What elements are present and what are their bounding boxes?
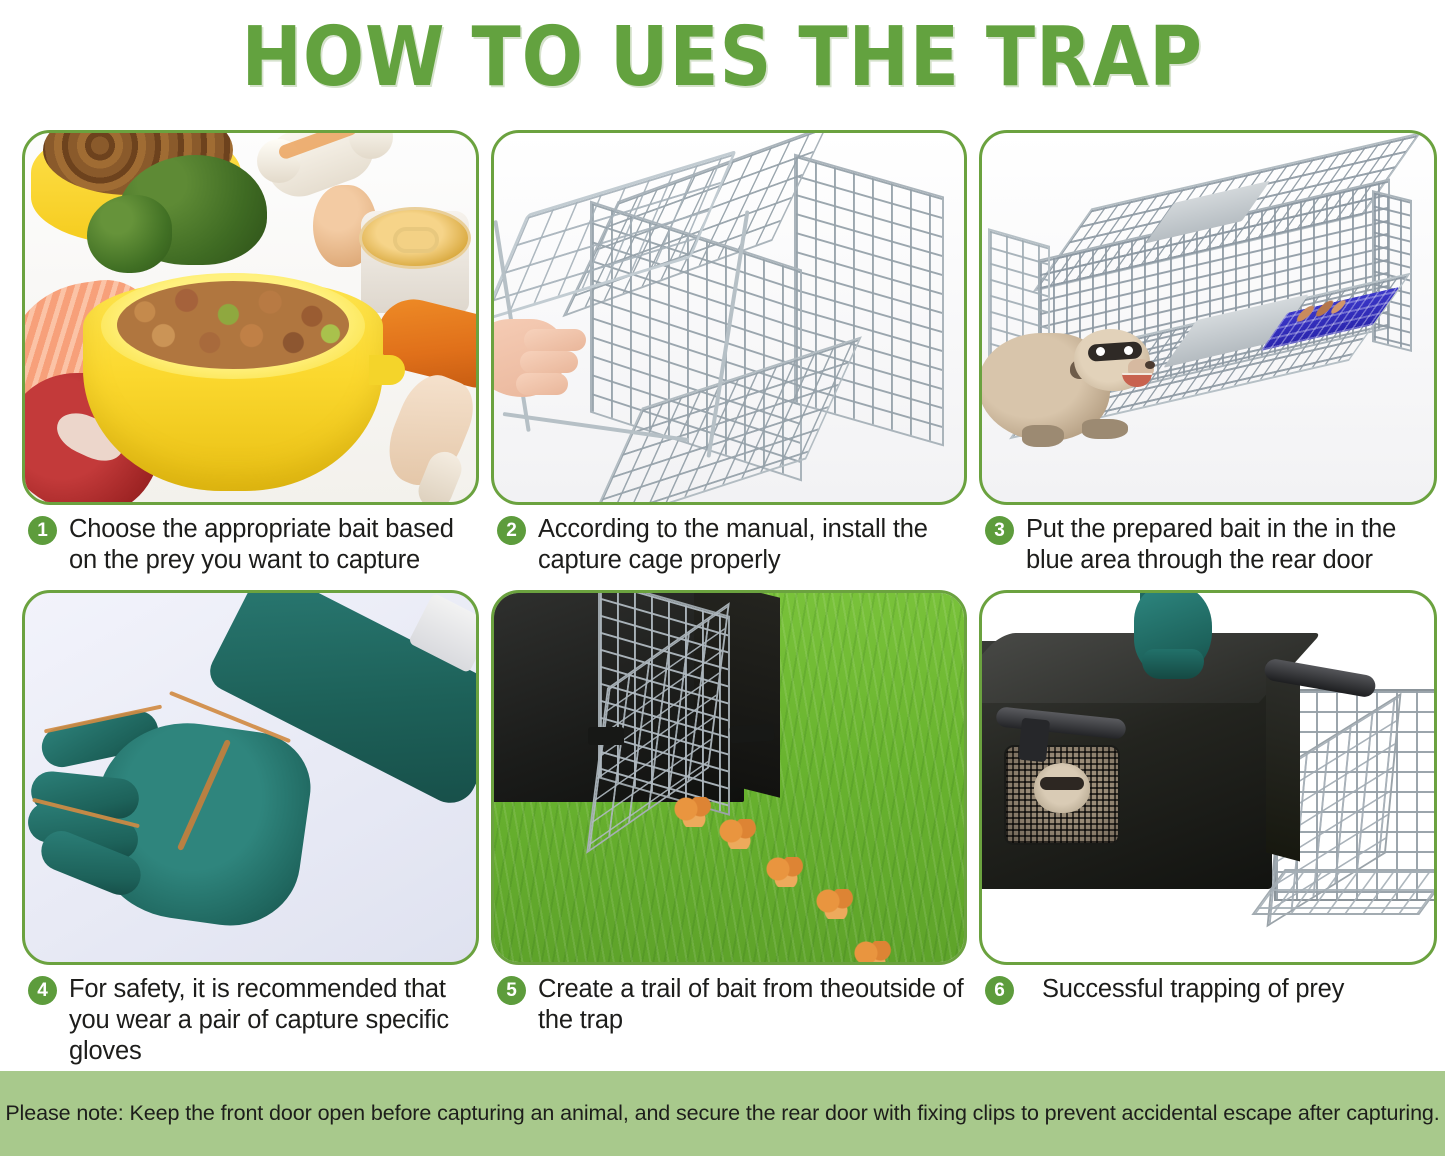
bait-pile-5 bbox=[854, 941, 894, 965]
raccoon-nose bbox=[1145, 361, 1155, 369]
hand-finger-1 bbox=[524, 329, 586, 351]
raccoon-face-mask-in-window bbox=[1040, 777, 1084, 790]
hand-finger-3 bbox=[516, 373, 568, 395]
step-1-badge: 1 bbox=[28, 516, 57, 545]
step-3-photo bbox=[979, 130, 1437, 505]
raccoon-trap-scene bbox=[982, 133, 1434, 502]
bait-pile-2 bbox=[719, 819, 759, 849]
dry-kibble-shape bbox=[117, 281, 349, 369]
pet-food-scene bbox=[25, 133, 476, 502]
trap-handle-strap bbox=[1018, 718, 1050, 763]
step-6-badge: 6 bbox=[985, 976, 1014, 1005]
steps-grid: 1 Choose the appropriate bait based on t… bbox=[22, 130, 1426, 1065]
step-6-caption: 6 Successful trapping of prey bbox=[979, 965, 1437, 1065]
please-note-bar: Please note: Keep the front door open be… bbox=[0, 1071, 1445, 1156]
glove-scene bbox=[25, 593, 476, 962]
raccoon-eye-right bbox=[1124, 346, 1133, 355]
page-title: HOW TO UES THE TRAP bbox=[242, 17, 1203, 99]
step-4-caption: 4 For safety, it is recommended that you… bbox=[22, 965, 479, 1065]
bait-pile-1 bbox=[674, 797, 714, 827]
infographic-page: HOW TO UES THE TRAP bbox=[0, 0, 1445, 1156]
raccoon-eye-left bbox=[1096, 347, 1105, 356]
step-3-badge: 3 bbox=[985, 516, 1014, 545]
hand-finger-2 bbox=[520, 351, 578, 373]
page-title-wrap: HOW TO UES THE TRAP bbox=[0, 6, 1445, 110]
step-3-caption: 3 Put the prepared bait in the in the bl… bbox=[979, 505, 1437, 590]
step-5-text: Create a trail of bait from theoutside o… bbox=[538, 974, 967, 1036]
trap-end-mesh bbox=[1372, 190, 1412, 352]
step-4-badge: 4 bbox=[28, 976, 57, 1005]
step-2-caption: 2 According to the manual, install the c… bbox=[491, 505, 967, 590]
bait-pile-4 bbox=[816, 889, 856, 919]
step-1-photo bbox=[22, 130, 479, 505]
food-can-pull-tab bbox=[393, 227, 439, 253]
step-6-photo bbox=[979, 590, 1437, 965]
bait-trail-scene bbox=[494, 593, 964, 962]
trap-clip-left bbox=[588, 727, 624, 745]
trap-assembly-scene bbox=[494, 133, 964, 502]
trap-rear-floor-mesh bbox=[1251, 869, 1437, 915]
step-5-caption: 5 Create a trail of bait from theoutside… bbox=[491, 965, 967, 1065]
raccoon-paw-right bbox=[1082, 419, 1128, 439]
raccoon-paw-left bbox=[1022, 425, 1064, 447]
bait-pile-3 bbox=[766, 857, 806, 887]
step-2-photo bbox=[491, 130, 967, 505]
step-2-badge: 2 bbox=[497, 516, 526, 545]
trap-clip-right bbox=[729, 723, 774, 743]
please-note-text: Please note: Keep the front door open be… bbox=[0, 1101, 1445, 1126]
broccoli-small-shape bbox=[87, 195, 172, 273]
step-4-photo bbox=[22, 590, 479, 965]
successful-trapping-scene bbox=[982, 593, 1434, 962]
step-5-photo bbox=[491, 590, 967, 965]
step-3-text: Put the prepared bait in the in the blue… bbox=[1026, 514, 1437, 576]
step-4-text: For safety, it is recommended that you w… bbox=[69, 974, 479, 1067]
step-2-text: According to the manual, install the cap… bbox=[538, 514, 967, 576]
main-bowl-handle bbox=[369, 355, 405, 385]
trap-cover-flap bbox=[1266, 662, 1300, 861]
carrying-glove-fingers bbox=[1142, 649, 1204, 679]
step-1-text: Choose the appropriate bait based on the… bbox=[69, 514, 479, 576]
step-5-badge: 5 bbox=[497, 976, 526, 1005]
step-6-text: Successful trapping of prey bbox=[1042, 974, 1344, 1005]
step-1-caption: 1 Choose the appropriate bait based on t… bbox=[22, 505, 479, 590]
